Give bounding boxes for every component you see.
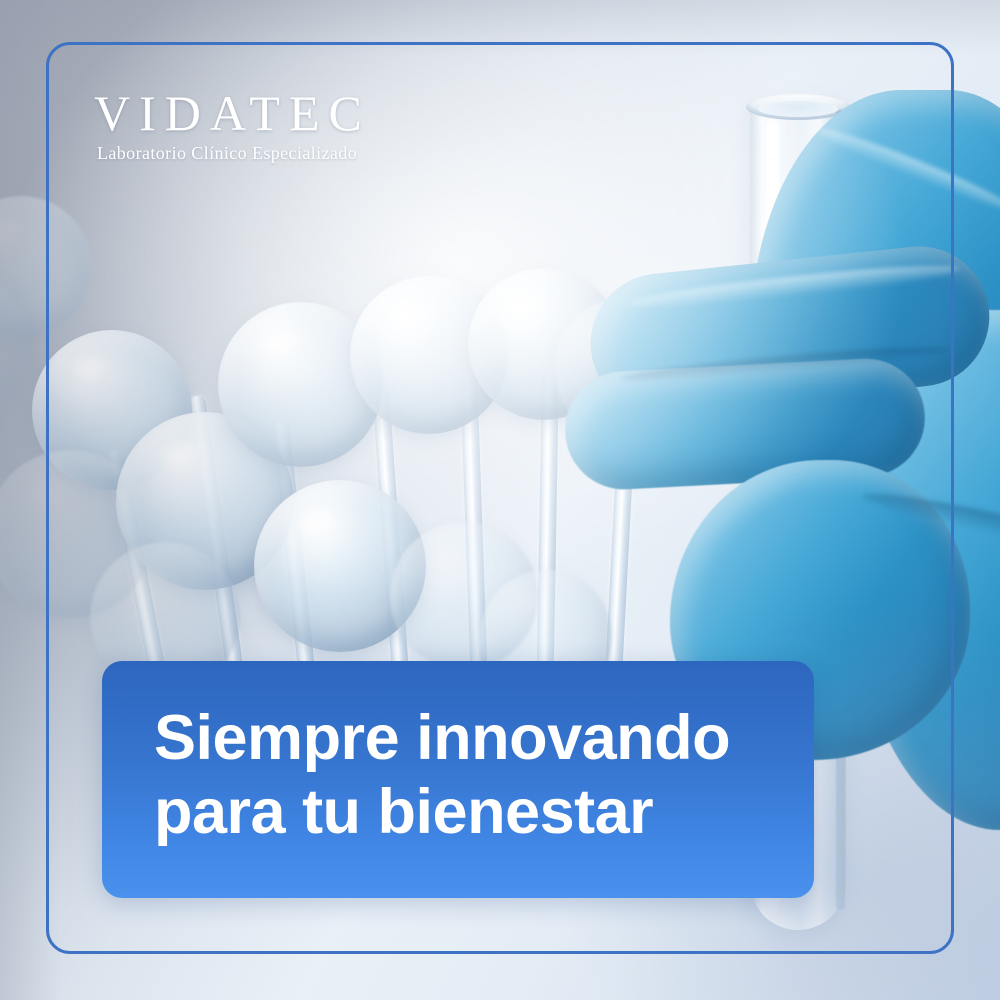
logo-tagline: Laboratorio Clínico Especializado <box>97 142 434 164</box>
logo-wordmark: VIDATEC <box>94 86 434 140</box>
poster-canvas: VIDATEC Laboratorio Clínico Especializad… <box>0 0 1000 1000</box>
headline-text: Siempre innovando para tu bienestar <box>154 701 794 849</box>
brand-logo: VIDATEC Laboratorio Clínico Especializad… <box>94 86 434 164</box>
headline-line-1: Siempre innovando <box>154 701 794 775</box>
headline-line-2: para tu bienestar <box>154 775 794 849</box>
headline-banner: Siempre innovando para tu bienestar <box>102 661 814 898</box>
